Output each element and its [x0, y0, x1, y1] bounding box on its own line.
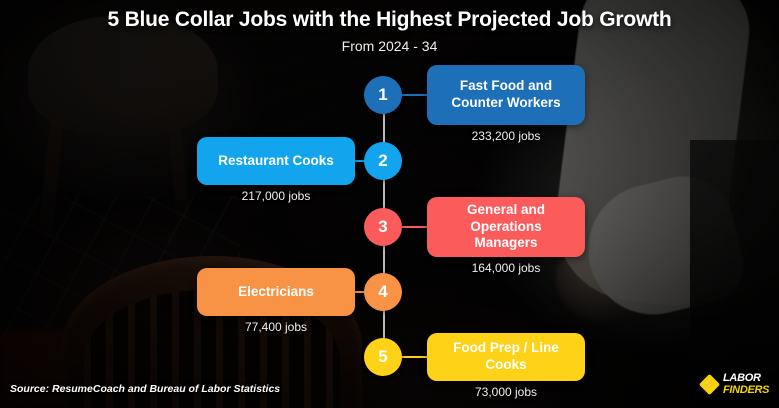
page-title: 5 Blue Collar Jobs with the Highest Proj… [0, 8, 779, 32]
job-card[interactable]: Fast Food and Counter Workers [427, 65, 585, 125]
logo-wordmark: LABOR FINDERS [723, 373, 769, 396]
logo-diamond-bolt-icon: ⚡ [700, 375, 719, 394]
job-card[interactable]: General and Operations Managers [427, 197, 585, 257]
page-subtitle: From 2024 - 34 [0, 38, 779, 54]
job-count-caption: 164,000 jobs [427, 261, 585, 275]
job-count-caption: 233,200 jobs [427, 129, 585, 143]
rank-badge: 1 [364, 76, 402, 114]
lightning-bolt-icon: ⚡ [700, 375, 719, 394]
rank-badge: 4 [364, 273, 402, 311]
connector-line [398, 226, 430, 228]
job-count-caption: 217,000 jobs [197, 189, 355, 203]
logo-word-labor: LABOR [723, 373, 769, 384]
job-card[interactable]: Food Prep / Line Cooks [427, 333, 585, 381]
rank-badge: 5 [364, 338, 402, 376]
source-note: Source: ResumeCoach and Bureau of Labor … [10, 383, 280, 395]
infographic-content: 5 Blue Collar Jobs with the Highest Proj… [0, 0, 779, 408]
logo-word-finders: FINDERS [723, 385, 769, 396]
job-card[interactable]: Restaurant Cooks [197, 137, 355, 185]
rank-badge: 3 [364, 208, 402, 246]
job-card[interactable]: Electricians [197, 268, 355, 316]
infographic-root: 5 Blue Collar Jobs with the Highest Proj… [0, 0, 779, 408]
labor-finders-logo[interactable]: ⚡ LABOR FINDERS [700, 371, 772, 397]
job-count-caption: 77,400 jobs [197, 320, 355, 334]
connector-line [398, 356, 430, 358]
connector-line [398, 94, 430, 96]
job-count-caption: 73,000 jobs [427, 385, 585, 399]
rank-badge: 2 [364, 142, 402, 180]
